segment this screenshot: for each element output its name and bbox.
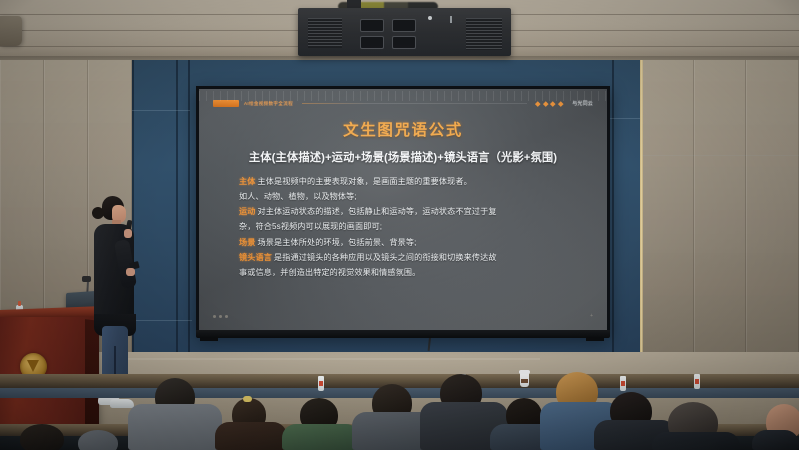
slide-keyword: 运动	[239, 207, 256, 216]
screen-foot	[200, 338, 218, 341]
projection-screen[interactable]: AI绘金视频数字全流程 与光同云 文生图咒语公式 主体(主体描述)+运动+场景(…	[196, 86, 610, 336]
slide-footer-mark: +	[590, 313, 593, 319]
hair-tie	[243, 396, 252, 402]
diamond-icon	[535, 101, 540, 106]
slide-footer-dots	[213, 315, 228, 318]
water-bottle	[620, 376, 626, 391]
dot-icon	[213, 315, 216, 318]
dot-icon	[225, 315, 228, 318]
slide-title: 文生图咒语公式	[213, 118, 593, 140]
screen-foot	[586, 338, 604, 341]
slide-body-line: 主体主体是视频中的主要表现对象，是画面主题的重要体现者。	[239, 176, 577, 188]
screen-bottom-bar	[196, 330, 610, 338]
slide-body-line: 场景场景是主体所处的环境，包括前景、背景等;	[239, 237, 577, 249]
presenter-shoe	[110, 399, 134, 408]
audience-member-head	[78, 430, 118, 450]
slide-line-text: 如人、动物、植物，以及物体等;	[239, 192, 357, 201]
audience-member-body	[282, 424, 360, 450]
slide-body-line: 运动对主体运动状态的描述，包括静止和运动等，运动状态不宜过于复	[239, 206, 577, 218]
water-bottle	[318, 376, 324, 391]
slide-badge	[213, 100, 239, 107]
audience-member-body	[215, 422, 287, 450]
slide-body: 主体主体是视频中的主要表现对象，是画面主题的重要体现者。 如人、动物、植物，以及…	[213, 176, 593, 278]
wall-speaker	[0, 16, 22, 46]
audience-member-body	[652, 432, 740, 450]
diamond-icon	[558, 101, 563, 106]
screen-surface: AI绘金视频数字全流程 与光同云 文生图咒语公式 主体(主体描述)+运动+场景(…	[199, 89, 607, 330]
slide-line-text: 杂，符合5s视频内可以展现的画面即可;	[239, 222, 382, 231]
slide-body-line: 事或信息，并创造出特定的视觉效果和情感氛围。	[239, 267, 577, 279]
slide-line-text: 主体是视频中的主要表现对象，是画面主题的重要体现者。	[258, 177, 472, 186]
dot-icon	[219, 315, 222, 318]
slide-header-rule	[302, 103, 527, 104]
water-bottle	[694, 374, 700, 389]
slide-keyword: 主体	[239, 177, 256, 186]
slide-keyword: 镜头语言	[239, 253, 272, 262]
diamond-icon	[550, 101, 555, 106]
presenter-hand-phone	[126, 268, 135, 276]
coffee-cup	[520, 372, 529, 387]
slide-line-text: 是指通过镜头的各种应用以及镜头之间的衔接和切换来传达故	[274, 253, 497, 262]
presentation-slide: AI绘金视频数字全流程 与光同云 文生图咒语公式 主体(主体描述)+运动+场景(…	[199, 89, 607, 330]
slide-line-text: 事或信息，并创造出特定的视觉效果和情感氛围。	[239, 268, 420, 277]
slide-keyword: 场景	[239, 238, 256, 247]
slide-line-text: 对主体运动状态的描述，包括静止和运动等，运动状态不宜过于复	[258, 207, 497, 216]
audience-member-head	[20, 424, 64, 450]
screen-top-texture	[199, 91, 607, 101]
presenter-hair-bun	[92, 207, 104, 219]
slide-footer: +	[213, 312, 593, 320]
ceiling-projector	[298, 8, 511, 56]
slide-formula: 主体(主体描述)+运动+场景(场景描述)+镜头语言（光影+氛围)	[213, 149, 593, 165]
audience-member-body	[752, 430, 799, 450]
lecture-hall-scene: AI绘金视频数字全流程 与光同云 文生图咒语公式 主体(主体描述)+运动+场景(…	[0, 0, 799, 450]
audience-member-body	[128, 404, 222, 450]
slide-body-line: 杂，符合5s视频内可以展现的画面即可;	[239, 221, 577, 233]
slide-badge-text: AI绘金视频数字全流程	[244, 101, 293, 107]
slide-line-text: 场景是主体所处的环境，包括前景、背景等;	[258, 238, 417, 247]
diamond-icon	[543, 101, 548, 106]
slide-body-line: 如人、动物、植物，以及物体等;	[239, 191, 577, 203]
presenter-hand-mic	[124, 229, 132, 238]
slide-diamond-icons	[536, 102, 562, 106]
slide-brand-logo: 与光同云	[572, 100, 593, 107]
slide-body-line: 镜头语言是指通过镜头的各种应用以及镜头之间的衔接和切换来传达故	[239, 252, 577, 264]
